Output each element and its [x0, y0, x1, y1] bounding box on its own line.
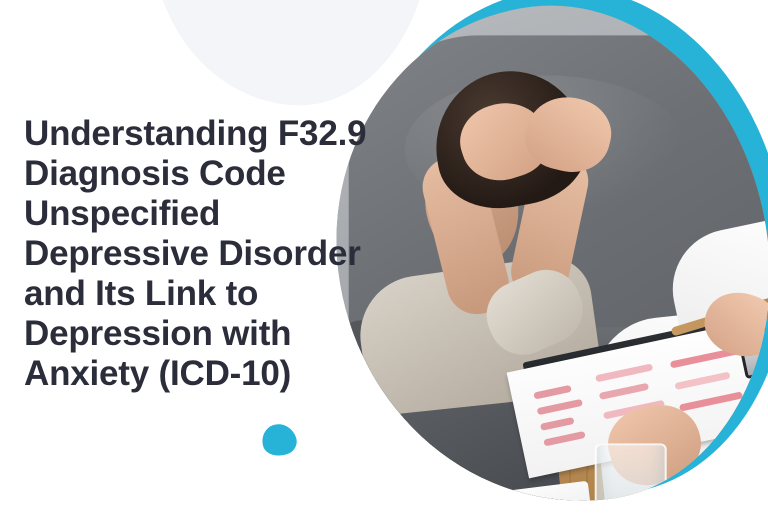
title-line: Understanding F32.9 [24, 114, 374, 154]
water-glass [595, 443, 667, 516]
title-line: Anxiety (ICD-10) [24, 354, 374, 394]
title-line: Depressive Disorder [24, 234, 374, 274]
title-line: and Its Link to [24, 274, 374, 314]
page-title: Understanding F32.9 Diagnosis Code Unspe… [24, 114, 374, 394]
article-hero-banner: Understanding F32.9 Diagnosis Code Unspe… [0, 0, 768, 516]
hero-photo [309, 0, 768, 516]
hero-image-group [308, 0, 768, 516]
title-line: Diagnosis Code [24, 154, 374, 194]
therapy-session-illustration [309, 0, 768, 516]
title-line: Depression with [24, 314, 374, 354]
title-line: Unspecified [24, 194, 374, 234]
cyan-accent-blob-decoration [258, 420, 300, 461]
